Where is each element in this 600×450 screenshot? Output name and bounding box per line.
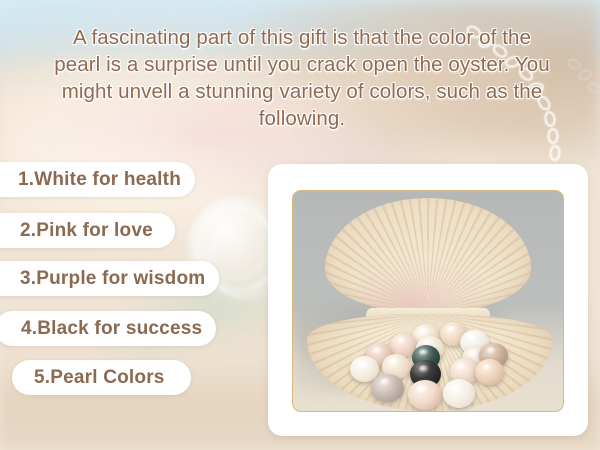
pearl-color-infographic: A fascinating part of this gift is that … [0, 0, 600, 450]
pearl-white-bottom [443, 379, 475, 408]
list-item-black-for-success: 4.Black for success [0, 311, 216, 346]
list-item-label: 4.Black for success [21, 318, 202, 340]
pearl-pink-bottom [408, 380, 442, 410]
pearl-peach-front [475, 359, 503, 384]
list-item-pearl-colors: 5.Pearl Colors [12, 360, 191, 395]
list-item-pink-for-love: 2.Pink for love [0, 213, 175, 248]
photo-frame [292, 190, 564, 412]
list-item-label: 5.Pearl Colors [34, 367, 165, 389]
shell-upper-iridescence [358, 266, 485, 309]
list-item-purple-for-wisdom: 3.Purple for wisdom [0, 261, 219, 296]
list-item-label: 1.White for health [18, 169, 181, 191]
headline-paragraph: A fascinating part of this gift is that … [52, 24, 552, 132]
pearl-shell-photo [293, 191, 563, 411]
photo-card [268, 164, 588, 436]
pearl-grey-bottom [371, 374, 403, 403]
list-item-white-for-health: 1.White for health [0, 162, 195, 197]
list-item-label: 2.Pink for love [20, 220, 153, 242]
list-item-label: 3.Purple for wisdom [20, 268, 205, 290]
